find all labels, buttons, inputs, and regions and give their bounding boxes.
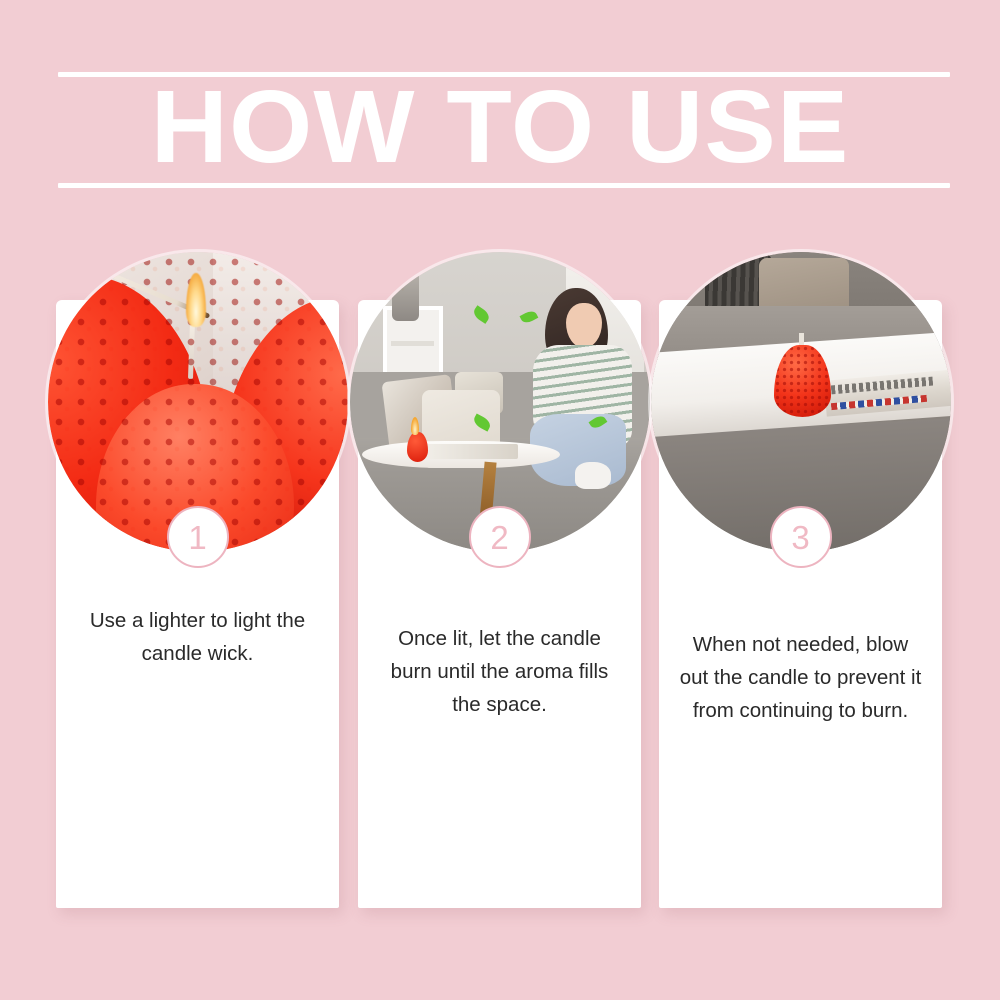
step-card-2[interactable]: 2 Once lit, let the candle burn until th… [358, 300, 641, 908]
flame-icon [411, 417, 419, 435]
step-3-text: When not needed, blow out the candle to … [677, 628, 924, 727]
step-2-text: Once lit, let the candle burn until the … [376, 622, 623, 721]
step-card-1[interactable]: 1 Use a lighter to light the candle wick… [56, 300, 339, 908]
steps-container: 1 Use a lighter to light the candle wick… [0, 0, 1000, 1000]
step-1-text: Use a lighter to light the candle wick. [74, 604, 321, 670]
step-number-badge-3: 3 [770, 506, 832, 568]
flame-icon [186, 273, 206, 327]
candle-icon [774, 345, 831, 417]
step-number-badge-1: 1 [167, 506, 229, 568]
step-card-3[interactable]: 3 When not needed, blow out the candle t… [659, 300, 942, 908]
step-number-badge-2: 2 [469, 506, 531, 568]
candle-icon [407, 432, 428, 462]
